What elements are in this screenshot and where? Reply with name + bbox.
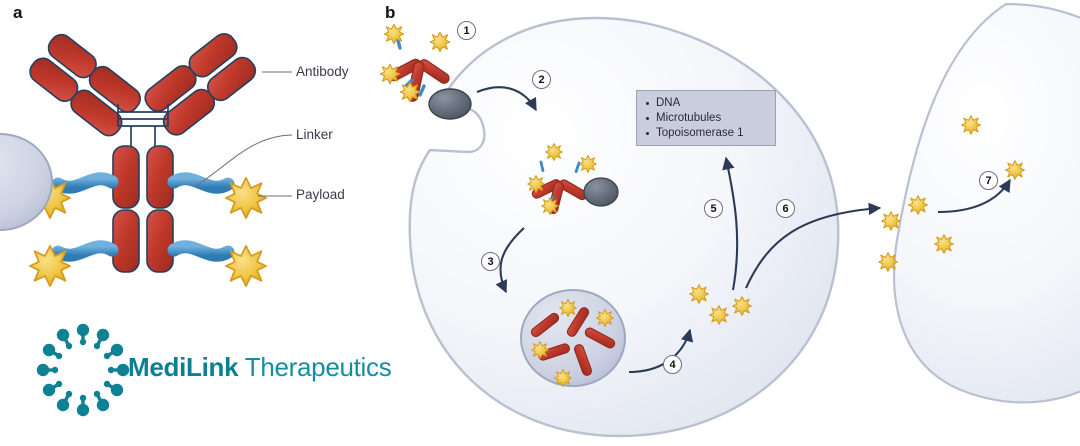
leader-line-linker [196, 135, 292, 186]
linker-group [58, 179, 228, 255]
payload-in-endosome-2 [580, 156, 597, 173]
tumour-cell-body [410, 18, 839, 436]
panel-letter-b: b [385, 3, 395, 23]
payload-in-lysosome-3 [532, 342, 549, 359]
payload-in-endosome-3 [528, 176, 545, 193]
payload-lower-left [30, 246, 70, 286]
payload-upper-right [226, 178, 266, 218]
payload-on-surface-adc-1 [384, 24, 404, 44]
step-badge-1: 1 [457, 21, 476, 40]
payload-extracellular-3 [935, 235, 954, 254]
linker-lower-right [174, 247, 228, 255]
step-badge-3: 3 [481, 252, 500, 271]
internalized-receptor [584, 178, 618, 206]
step-badge-2: 2 [532, 70, 551, 89]
payload-in-lysosome-2 [597, 310, 614, 327]
payload-on-surface-adc-2 [430, 32, 450, 52]
label-linker: Linker [296, 127, 333, 142]
label-payload: Payload [296, 187, 345, 202]
lysosome-vesicle [521, 290, 625, 387]
payload-bystander-2 [1006, 161, 1025, 180]
step-badge-6: 6 [776, 199, 795, 218]
payload-cytoplasm-3 [733, 297, 752, 316]
legend-item-dna: DNA [646, 96, 775, 111]
payload-bystander-1 [962, 116, 981, 135]
payload-lower-right [226, 246, 266, 286]
step-badge-7: 7 [979, 171, 998, 190]
payload-in-endosome-1 [546, 144, 563, 161]
target-legend-box: DNA Microtubules Topoisomerase 1 [636, 90, 776, 146]
antibody-fab-arm-left [26, 30, 145, 140]
payload-extracellular-1 [882, 212, 901, 231]
panel-letter-a: a [13, 3, 22, 23]
legend-item-topoisomerase: Topoisomerase 1 [646, 126, 775, 141]
panel-a-adc-structure [26, 29, 292, 286]
payload-on-surface-adc-4 [400, 82, 420, 102]
logo-word-light: Therapeutics [238, 352, 391, 382]
payload-on-surface-adc-3 [380, 64, 400, 84]
payload-in-lysosome-4 [555, 370, 572, 387]
payload-cytoplasm-1 [690, 285, 709, 304]
payload-extracellular-4 [879, 253, 898, 272]
payload-cytoplasm-2 [710, 306, 729, 325]
medilink-logo-mark [37, 324, 129, 416]
step-badge-4: 4 [663, 355, 682, 374]
label-antibody: Antibody [296, 64, 349, 79]
payload-in-endosome-4 [542, 198, 559, 215]
payload-in-lysosome-1 [560, 300, 577, 317]
payload-extracellular-2 [909, 196, 928, 215]
medilink-logo-text: MediLink Therapeutics [128, 352, 391, 383]
logo-word-bold: MediLink [128, 352, 238, 382]
legend-item-microtubules: Microtubules [646, 111, 775, 126]
step-badge-5: 5 [704, 199, 723, 218]
antibody-fab-arm-right [141, 29, 260, 139]
cell-surface-receptor [429, 89, 471, 119]
surface-bound-adc [380, 24, 471, 119]
antibody-fc-stem [113, 146, 173, 272]
